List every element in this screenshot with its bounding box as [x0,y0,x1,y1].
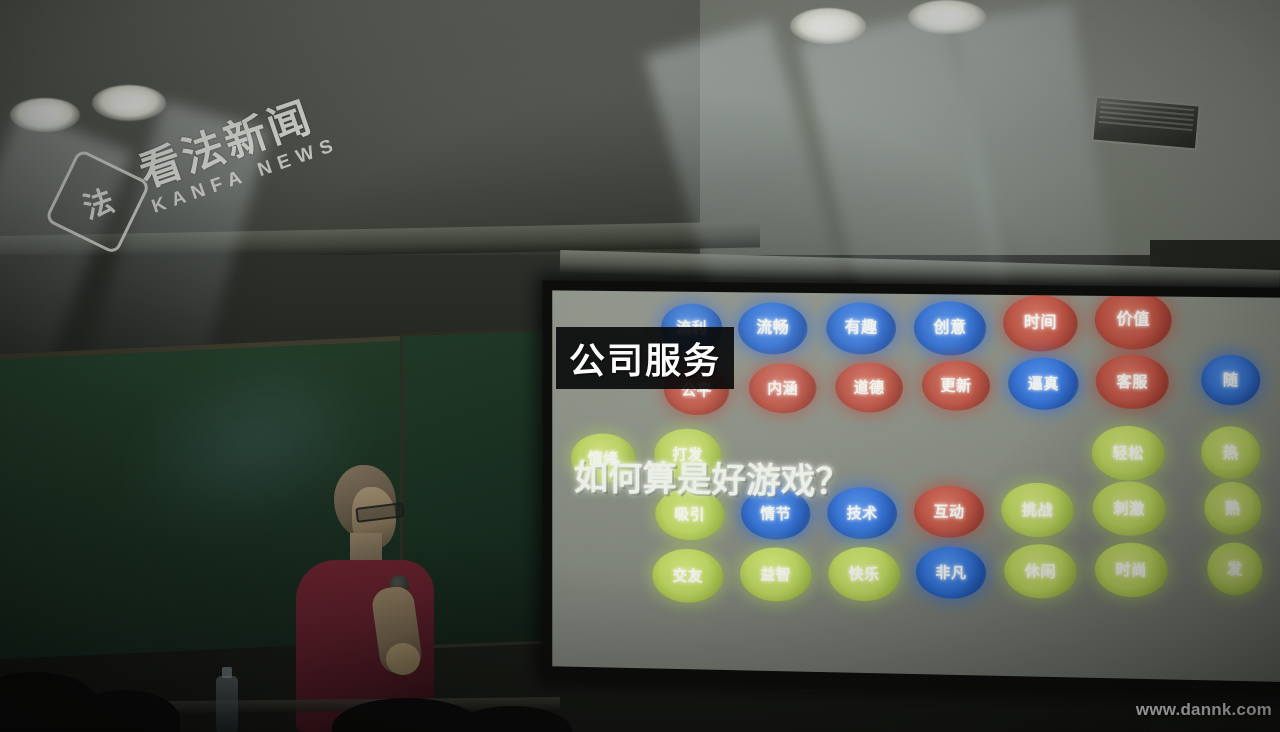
speaker-figure [290,465,470,732]
slide-bubble: 逼真 [1008,357,1078,410]
slide-bubble-label: 发 [1227,561,1243,576]
caption-overlay: 公司服务 [556,327,734,389]
slide-bubble-label: 更新 [940,378,971,393]
slide-bubble: 创意 [914,301,986,356]
slide-bubble: 挑战 [1001,482,1073,537]
ceiling-light-2-icon [92,85,166,121]
slide-bubble-label: 时尚 [1116,562,1147,578]
slide-bubble-label: 流畅 [756,320,789,336]
slide-bubble: 熟 [1204,482,1261,535]
slide-bubble: 价值 [1095,291,1172,350]
slide-bubble: 更新 [922,360,990,411]
slide-bubble-label: 熟 [1225,501,1241,516]
slide-bubble-label: 交友 [672,568,703,583]
screenshot-stage: 流利流畅有趣创意时间价值公平内涵道德更新逼真客服随情绪打发轻松热吸引情节技术互动… [0,0,1280,732]
slide-bubble: 发 [1207,542,1262,595]
slide-bubble-label: 时间 [1024,315,1057,331]
slide-bubble-label: 轻松 [1112,445,1143,461]
kanfa-logo-glyph: 法 [76,176,119,227]
slide-bubble-label: 创意 [933,320,966,336]
slide-bubble: 热 [1201,426,1260,479]
slide-bubble-label: 客服 [1117,374,1148,389]
slide-bubble-label: 刺激 [1114,501,1145,517]
slide-bubble: 非凡 [916,546,986,599]
slide-bubble-label: 技术 [847,505,878,520]
speaker-hand [386,643,420,675]
slide-bubble-label: 非凡 [935,565,966,581]
slide-bubble: 刺激 [1093,481,1166,537]
slide-bubble: 交友 [652,548,723,603]
slide-bubble: 有趣 [826,302,896,355]
slide-bubble-label: 内涵 [767,381,798,396]
slide-bubble: 时尚 [1095,542,1168,598]
slide-bubble-label: 热 [1223,445,1239,460]
slide-bubble: 互动 [914,485,984,538]
slide-bubble: 道德 [835,362,903,413]
ceiling-light-1-icon [10,98,80,132]
slide-bubble: 随 [1201,354,1260,405]
water-bottle [216,676,238,732]
slide-bubble-label: 互动 [933,504,964,520]
slide-bubble-label: 随 [1223,372,1239,387]
air-vent [1091,95,1201,150]
slide-bubbles-layer: 流利流畅有趣创意时间价值公平内涵道德更新逼真客服随情绪打发轻松热吸引情节技术互动… [552,290,1280,297]
slide-bubble-label: 逼真 [1028,376,1059,391]
slide-bubble: 轻松 [1092,425,1165,480]
slide-title: 如何算是好游戏？ [574,450,850,505]
slide-bubble-label: 快乐 [849,566,880,582]
slide-bubble-label: 价值 [1117,312,1150,328]
slide-bubble: 客服 [1096,354,1169,409]
slide-bubble-label: 休闲 [1025,564,1056,580]
slide-bubble: 快乐 [828,547,900,602]
ceiling-light-4-icon [908,0,986,34]
slide-bubble: 时间 [1003,295,1078,352]
slide-bubble: 流畅 [738,302,807,355]
slide-bubble-label: 情节 [760,506,791,521]
slide-bubble-label: 益智 [760,567,791,583]
ceiling-light-3-icon [790,8,866,44]
slide-bubble: 内涵 [749,363,816,414]
slide-bubble: 益智 [740,547,811,602]
slide-bubble-label: 道德 [854,380,885,395]
caption-overlay-text: 公司服务 [569,332,721,384]
slide-bubble: 休闲 [1004,544,1076,600]
slide-bubble-label: 有趣 [845,320,878,336]
slide-bubble-label: 吸引 [674,507,705,522]
slide-bubble-label: 挑战 [1022,502,1053,518]
site-url-watermark: www.dannk.com [1136,700,1272,720]
